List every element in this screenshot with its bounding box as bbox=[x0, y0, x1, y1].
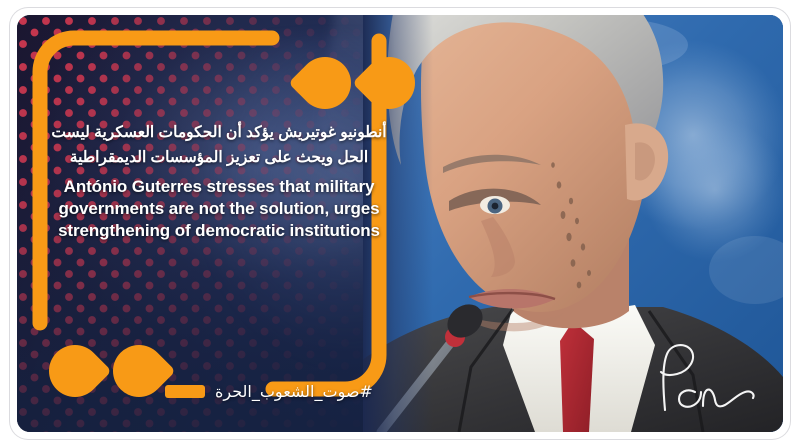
dash-icon bbox=[165, 385, 205, 398]
poster-card: أنطونيو غوتيريش يؤكد أن الحكومات العسكري… bbox=[10, 8, 790, 439]
headline-block: أنطونيو غوتيريش يؤكد أن الحكومات العسكري… bbox=[43, 120, 395, 243]
subject-photo bbox=[363, 15, 783, 432]
hashtag-label: #صوت_الشعوب_الحرة bbox=[215, 382, 373, 401]
headline-english: António Guterres stresses that military … bbox=[43, 176, 395, 242]
headline-arabic: أنطونيو غوتيريش يؤكد أن الحكومات العسكري… bbox=[43, 120, 395, 170]
hashtag-row: #صوت_الشعوب_الحرة bbox=[165, 375, 365, 407]
social-media-quote-card: أنطونيو غوتيريش يؤكد أن الحكومات العسكري… bbox=[0, 0, 800, 447]
poster-inner: أنطونيو غوتيريش يؤكد أن الحكومات العسكري… bbox=[17, 15, 783, 432]
subject-photo-illustration bbox=[363, 15, 783, 432]
